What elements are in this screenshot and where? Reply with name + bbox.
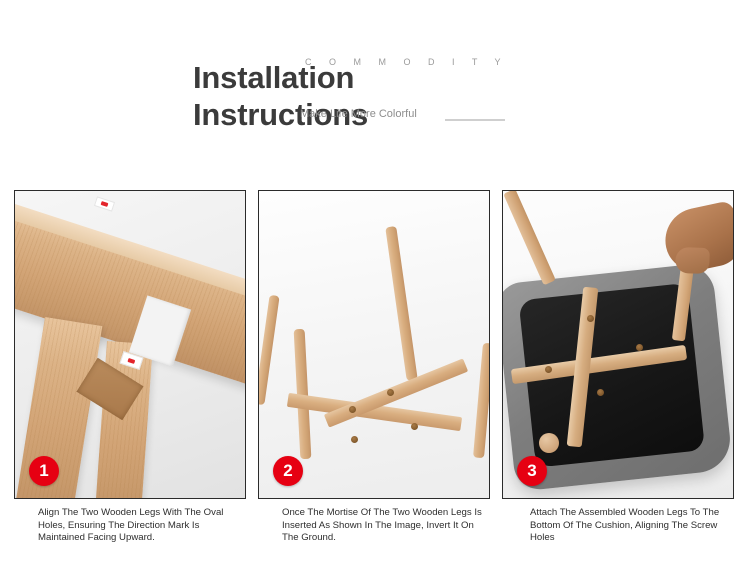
step-photo-2 bbox=[259, 191, 489, 498]
step-badge-2: 2 bbox=[273, 456, 303, 486]
screw-hole bbox=[587, 315, 594, 322]
step-caption-3: Attach The Assembled Wooden Legs To The … bbox=[502, 507, 734, 545]
subtitle-text: Make Life More Colorful bbox=[300, 107, 430, 122]
screw-hole bbox=[351, 436, 358, 443]
step-panel-1: 1 bbox=[14, 190, 246, 499]
step-badge-1: 1 bbox=[29, 456, 59, 486]
step-caption-row: Align The Two Wooden Legs With The Oval … bbox=[14, 507, 736, 545]
header-divider-rule bbox=[445, 119, 505, 121]
step-badge-3: 3 bbox=[517, 456, 547, 486]
screw-hole bbox=[597, 389, 604, 396]
sticker-dot-icon bbox=[101, 201, 109, 207]
page-header: C O M M O D I T Y Installation Instructi… bbox=[0, 0, 750, 182]
step-photo-3 bbox=[503, 191, 733, 498]
step-photo-1 bbox=[15, 191, 245, 498]
step-caption-1: Align The Two Wooden Legs With The Oval … bbox=[14, 507, 246, 545]
step-caption-2: Once The Mortise Of The Two Wooden Legs … bbox=[258, 507, 490, 545]
screw-hole bbox=[545, 366, 552, 373]
step-photo-row: 1 2 bbox=[14, 190, 736, 499]
leg-foot-end bbox=[539, 433, 559, 453]
screw-hole bbox=[387, 389, 394, 396]
sticker-dot-icon bbox=[128, 358, 136, 364]
screw-hole bbox=[411, 423, 418, 430]
step-panel-3: 3 bbox=[502, 190, 734, 499]
screw-hole bbox=[349, 406, 356, 413]
title-line-1: Installation bbox=[193, 62, 523, 93]
step-panel-2: 2 bbox=[258, 190, 490, 499]
screw-hole bbox=[636, 344, 643, 351]
